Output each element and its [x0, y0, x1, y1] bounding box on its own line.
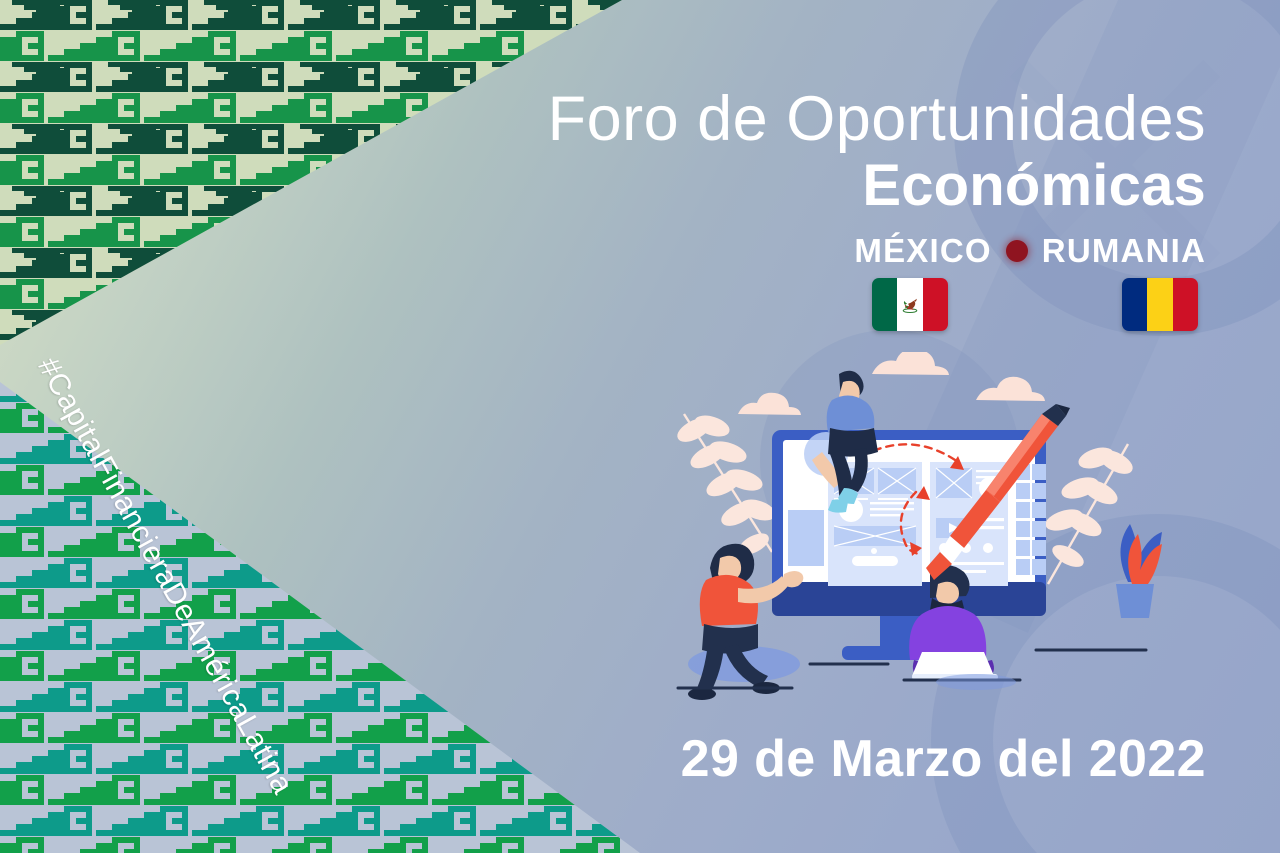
countries-row: MÉXICO RUMANIA: [854, 232, 1206, 270]
event-date: 29 de Marzo del 2022: [681, 729, 1206, 789]
poster-canvas: #CapitalFinancieraDeAméricaLatina Foro d…: [0, 0, 1280, 853]
headline-block: Foro de Oportunidades Económicas: [548, 86, 1206, 217]
web-design-illustration: [676, 352, 1196, 704]
country-name-mexico: MÉXICO: [854, 232, 991, 270]
mexican-eagle-emblem: [899, 294, 921, 316]
clouds: [738, 352, 1045, 415]
headline-line-1: Foro de Oportunidades: [548, 86, 1206, 152]
romania-flag-icon: [1122, 278, 1198, 331]
mexico-flag-icon: [872, 278, 948, 331]
flags-row: [826, 278, 1206, 338]
headline-line-2: Económicas: [548, 156, 1206, 217]
potted-plant: [1116, 524, 1162, 618]
leaf-branch-right: [1044, 444, 1134, 584]
red-dot-icon: [1006, 240, 1028, 262]
leaf-branch-left: [676, 413, 777, 557]
country-name-rumania: RUMANIA: [1042, 232, 1206, 270]
